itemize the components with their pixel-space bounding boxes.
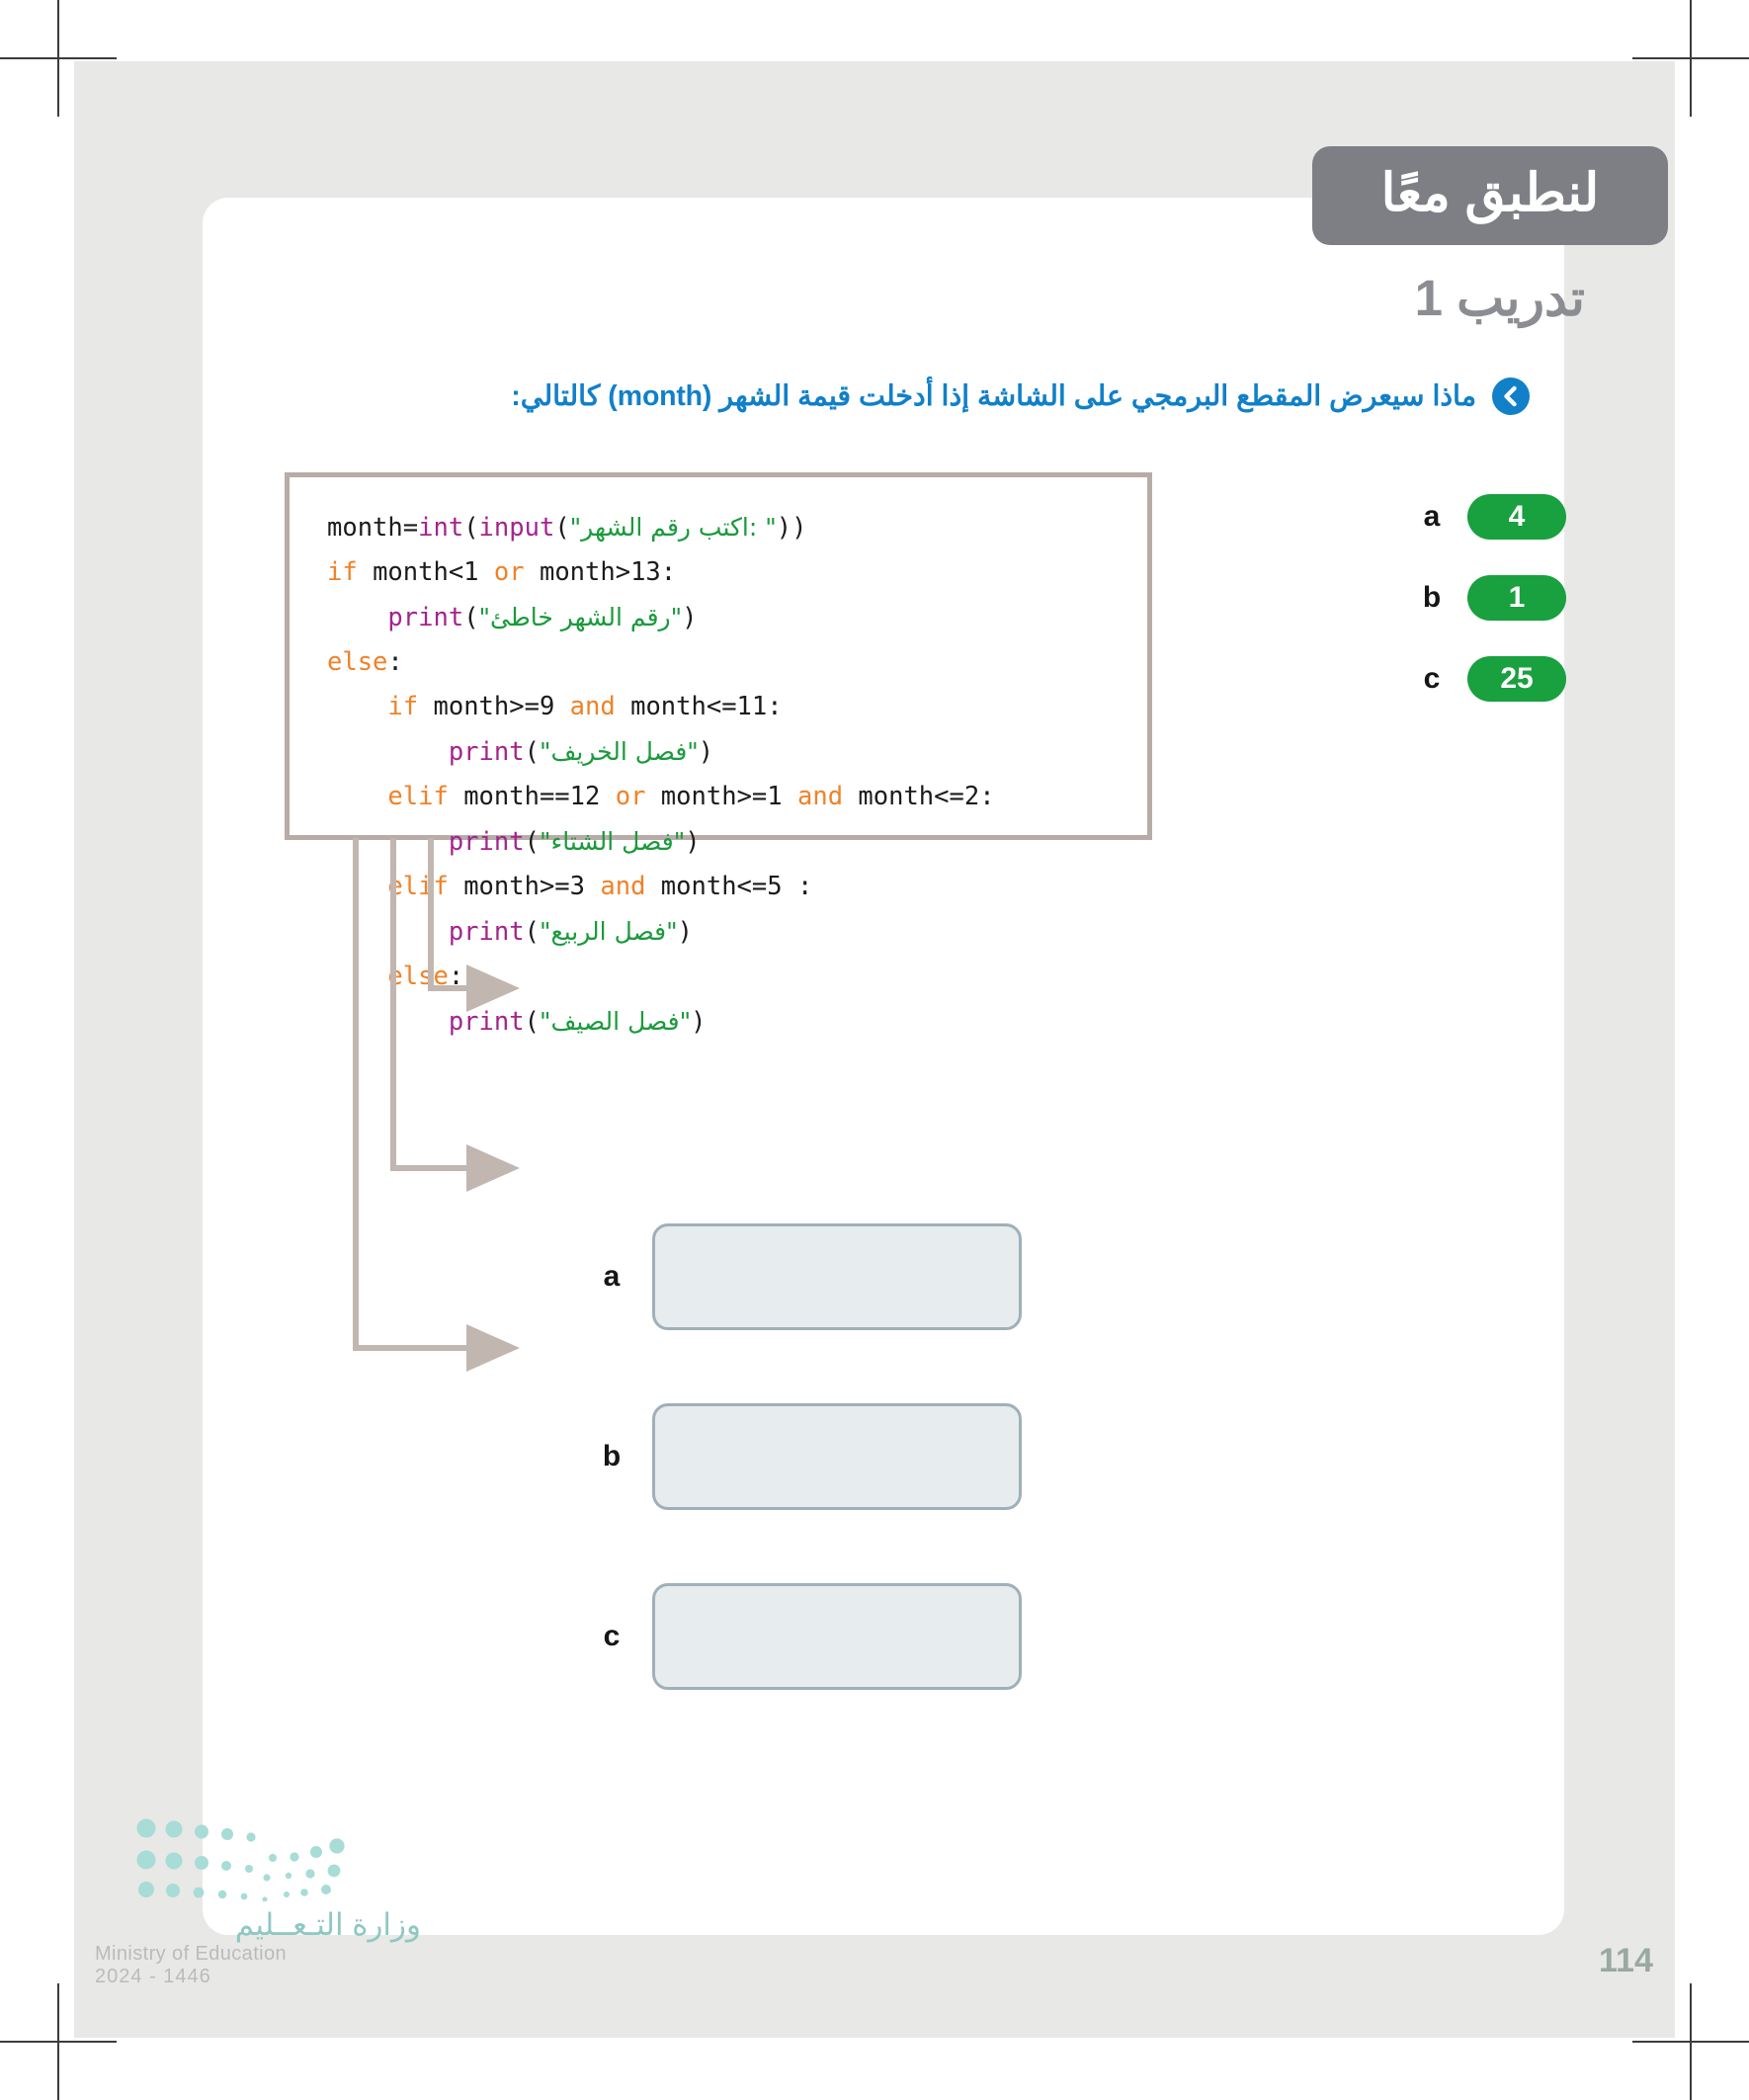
ministry-logo-dots-icon <box>136 1816 346 1901</box>
code-token-plain <box>327 692 387 721</box>
answer-input-b[interactable] <box>652 1403 1022 1510</box>
code-token-plain: : <box>387 647 402 677</box>
code-token-plain: ( <box>463 603 478 632</box>
textbook-page: لنطبق معًا تدريب 1 ماذا سيعرض المقطع الب… <box>0 0 1749 2100</box>
code-line: print("فصل الخريف") <box>327 729 1147 775</box>
section-badge: لنطبق معًا <box>1312 146 1668 245</box>
code-token-builtin: print <box>449 737 525 767</box>
crop-mark-bottom-right-horizontal <box>1632 2041 1749 2043</box>
input-value-pill-c: 25 <box>1467 656 1566 702</box>
code-token-string: "فصل الخريف" <box>540 737 699 766</box>
code-line: elif month==12 or month>=1 and month<=2: <box>327 775 1147 819</box>
answer-row-b: b <box>601 1403 1022 1510</box>
code-token-plain <box>327 782 387 811</box>
code-token-keyword: and <box>797 782 843 811</box>
code-line: if month<1 or month>13: <box>327 550 1147 595</box>
code-token-keyword: and <box>570 692 616 721</box>
page-title: تدريب 1 <box>1415 269 1585 328</box>
page-number: 114 <box>1599 1942 1653 1980</box>
code-token-keyword: or <box>494 557 525 587</box>
code-token-plain: ( <box>525 737 540 767</box>
input-values-list: a4b1c25 <box>1420 494 1566 702</box>
code-token-plain: month>=1 <box>645 782 797 811</box>
answer-letter-c: c <box>601 1620 623 1653</box>
chevron-left-icon <box>1492 378 1530 415</box>
code-token-plain <box>327 603 387 632</box>
code-token-plain: month<1 <box>358 557 494 587</box>
input-value-row-a: a4 <box>1420 494 1566 540</box>
input-value-letter-c: c <box>1420 662 1444 696</box>
input-value-row-b: b1 <box>1420 575 1566 621</box>
code-line: if month>=9 and month<=11: <box>327 685 1147 729</box>
code-token-string: "رقم الشهر خاطئ" <box>479 603 683 631</box>
code-token-plain: month= <box>327 513 418 543</box>
code-token-plain: ( <box>554 513 569 543</box>
question-row: ماذا سيعرض المقطع البرمجي على الشاشة إذا… <box>511 378 1530 415</box>
code-token-plain: month<=2: <box>843 782 995 811</box>
answer-letter-b: b <box>601 1440 623 1473</box>
question-text: ماذا سيعرض المقطع البرمجي على الشاشة إذا… <box>511 379 1476 413</box>
input-value-pill-b: 1 <box>1467 575 1566 621</box>
code-line: print("رقم الشهر خاطئ") <box>327 595 1147 640</box>
code-token-keyword: else <box>327 647 387 677</box>
code-line: else: <box>327 640 1147 685</box>
code-token-plain: )) <box>777 513 807 543</box>
input-value-row-c: c25 <box>1420 656 1566 702</box>
input-value-letter-b: b <box>1420 581 1444 615</box>
connector-path-a <box>431 838 472 988</box>
ministry-logo-year: 2024 - 1446 <box>95 1966 421 1988</box>
connector-arrows <box>285 838 700 1391</box>
connector-path-c <box>356 838 472 1348</box>
code-token-keyword: if <box>387 692 418 721</box>
code-token-plain: ) <box>699 737 713 767</box>
code-token-plain <box>327 737 449 767</box>
section-badge-label: لنطبق معًا <box>1381 163 1600 223</box>
input-value-pill-a: 4 <box>1467 494 1566 540</box>
code-token-plain: ( <box>463 513 478 543</box>
ministry-logo-english: Ministry of Education <box>95 1943 421 1966</box>
code-token-string: "اكتب رقم الشهر: " <box>570 513 777 542</box>
code-token-builtin: int <box>418 513 463 543</box>
input-value-letter-a: a <box>1420 500 1444 534</box>
code-snippet-box: month=int(input("اكتب رقم الشهر: "))if m… <box>285 472 1152 840</box>
code-token-keyword: if <box>327 557 358 587</box>
answer-input-a[interactable] <box>652 1223 1022 1330</box>
ministry-logo: وزارة التـعــليم Ministry of Education 2… <box>95 1816 421 1988</box>
crop-mark-top-left-horizontal <box>0 57 117 59</box>
code-token-plain: month==12 <box>449 782 616 811</box>
answer-row-c: c <box>601 1583 1022 1690</box>
code-token-builtin: print <box>387 603 463 632</box>
code-token-keyword: elif <box>387 782 448 811</box>
code-token-keyword: or <box>616 782 646 811</box>
ministry-logo-arabic: وزارة التـعــليم <box>95 1907 421 1943</box>
crop-mark-bottom-left-horizontal <box>0 2041 117 2043</box>
code-token-plain: ) <box>682 603 697 632</box>
code-token-plain: month>=9 <box>418 692 570 721</box>
answer-input-c[interactable] <box>652 1583 1022 1690</box>
code-token-plain: month<=11: <box>616 692 783 721</box>
crop-mark-top-right-horizontal <box>1632 57 1749 59</box>
code-token-builtin: input <box>479 513 555 543</box>
code-token-plain: month>13: <box>525 557 677 587</box>
code-line: month=int(input("اكتب رقم الشهر: ")) <box>327 505 1147 550</box>
